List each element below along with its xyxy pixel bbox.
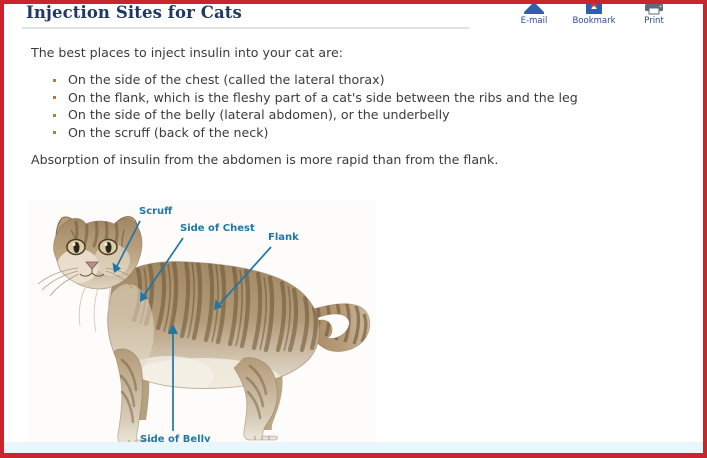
annotation-label-side-of-chest: Side of Chest	[180, 223, 255, 234]
cat-illustration: Scruff Side of Chest Flank	[28, 200, 376, 447]
annotation-label-scruff: Scruff	[139, 206, 173, 217]
email-button[interactable]: E-mail	[510, 0, 558, 26]
list-item: On the side of the belly (lateral abdome…	[49, 106, 578, 124]
page-title: Injection Sites for Cats	[26, 3, 242, 22]
action-toolbar: E-mail Bookmark	[510, 0, 678, 26]
outro-paragraph: Absorption of insulin from the abdomen i…	[31, 152, 498, 167]
footer-band	[4, 442, 703, 453]
annotation-label-flank: Flank	[268, 232, 299, 243]
envelope-icon	[523, 0, 545, 15]
page-header: Injection Sites for Cats E-mail	[4, 4, 703, 38]
cat-eye-right	[99, 240, 117, 255]
page-frame: Injection Sites for Cats E-mail	[0, 0, 707, 458]
print-label: Print	[644, 16, 664, 26]
printer-icon	[643, 0, 665, 15]
injection-sites-list: On the side of the chest (called the lat…	[49, 71, 578, 141]
list-item: On the flank, which is the fleshy part o…	[49, 89, 578, 107]
bookmark-label: Bookmark	[572, 16, 615, 26]
print-button[interactable]: Print	[630, 0, 678, 26]
title-divider	[22, 27, 469, 29]
list-item: On the side of the chest (called the lat…	[49, 71, 578, 89]
intro-paragraph: The best places to inject insulin into y…	[31, 45, 343, 60]
cat-eye-left	[67, 240, 85, 255]
bookmark-button[interactable]: Bookmark	[570, 0, 618, 26]
cat-injection-site-diagram: Scruff Side of Chest Flank	[28, 200, 376, 447]
page-content: Injection Sites for Cats E-mail	[4, 4, 703, 453]
cat-figure	[38, 212, 370, 444]
email-label: E-mail	[521, 16, 548, 26]
list-item: On the scruff (back of the neck)	[49, 124, 578, 142]
bookmark-icon	[584, 0, 604, 15]
